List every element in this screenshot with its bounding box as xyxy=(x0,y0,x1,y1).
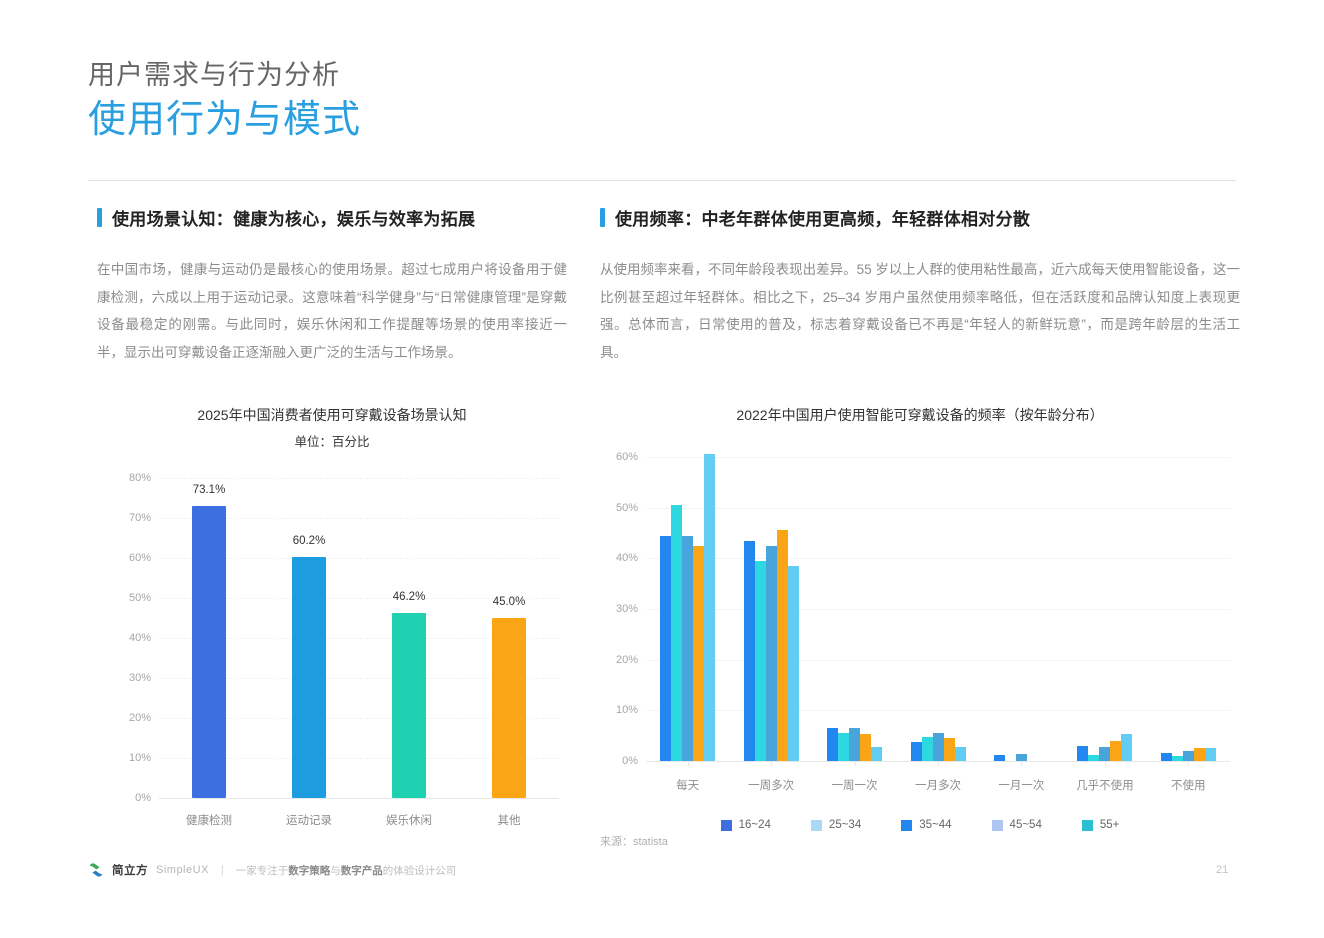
y-axis-tick: 60% xyxy=(616,451,638,463)
x-axis-label: 一月一次 xyxy=(998,777,1044,793)
bar xyxy=(1205,748,1216,761)
footer-brand-cn: 简立方 xyxy=(112,862,148,878)
left-chart-title: 2025年中国消费者使用可穿戴设备场景认知 xyxy=(97,405,567,425)
bar xyxy=(827,728,838,761)
x-axis-tick xyxy=(1188,761,1189,766)
legend-swatch-icon xyxy=(1082,820,1093,831)
bar xyxy=(1121,734,1132,761)
y-axis-tick: 0% xyxy=(135,792,151,804)
slide: 用户需求与行为分析 使用行为与模式 使用场景认知：健康为核心，娱乐与效率为拓展 … xyxy=(0,0,1324,938)
gridline xyxy=(646,457,1230,458)
y-axis-tick: 70% xyxy=(129,512,151,524)
bar xyxy=(1110,741,1121,761)
bar-value-label: 73.1% xyxy=(193,484,226,496)
left-section-body: 在中国市场，健康与运动仍是最核心的使用场景。超过七成用户将设备用于健康检测，六成… xyxy=(97,256,567,367)
gridline xyxy=(646,710,1230,711)
left-chart-plot: 0%10%20%30%40%50%60%70%80%73.1%健康检测60.2%… xyxy=(159,478,559,798)
bar xyxy=(860,734,871,761)
y-axis-tick: 40% xyxy=(616,552,638,564)
bar xyxy=(704,454,715,761)
left-chart: 2025年中国消费者使用可穿戴设备场景认知 单位：百分比 0%10%20%30%… xyxy=(97,405,567,798)
x-axis-label: 运动记录 xyxy=(286,812,332,828)
y-axis-tick: 20% xyxy=(129,712,151,724)
y-axis-tick: 10% xyxy=(129,752,151,764)
footer-brand-en: SimpleUX xyxy=(156,864,209,876)
right-chart-source: 来源：statista xyxy=(600,833,668,849)
x-axis-tick xyxy=(855,761,856,766)
y-axis-tick: 10% xyxy=(616,704,638,716)
legend-label: 16~24 xyxy=(739,819,771,831)
footer: 简立方 SimpleUX | 一家专注于数字策略与数字产品的体验设计公司 xyxy=(88,862,456,878)
bar xyxy=(1016,754,1027,761)
bar xyxy=(192,506,226,798)
bar xyxy=(1077,746,1088,761)
legend-item[interactable]: 25~34 xyxy=(811,819,861,831)
bar xyxy=(660,536,671,761)
bar xyxy=(392,613,426,798)
right-chart-title: 2022年中国用户使用智能可穿戴设备的频率（按年龄分布） xyxy=(600,405,1240,425)
bar xyxy=(911,742,922,761)
x-axis-label: 一周多次 xyxy=(748,777,794,793)
bar xyxy=(849,728,860,761)
x-axis-tick xyxy=(1105,761,1106,766)
bar xyxy=(955,747,966,761)
y-axis-tick: 30% xyxy=(129,672,151,684)
bar xyxy=(1183,751,1194,761)
bar xyxy=(755,561,766,761)
bar xyxy=(1099,747,1110,761)
bar-value-label: 45.0% xyxy=(493,596,526,608)
bar xyxy=(1194,748,1205,761)
left-chart-subtitle: 单位：百分比 xyxy=(97,431,567,450)
accent-bar-icon xyxy=(97,208,102,227)
page-title: 使用行为与模式 xyxy=(88,97,361,145)
footer-tagline: 一家专注于数字策略与数字产品的体验设计公司 xyxy=(236,863,457,878)
bar xyxy=(682,536,693,761)
x-axis-tick xyxy=(771,761,772,766)
bar-value-label: 46.2% xyxy=(393,591,426,603)
left-column: 使用场景认知：健康为核心，娱乐与效率为拓展 在中国市场，健康与运动仍是最核心的使… xyxy=(97,205,567,367)
legend-swatch-icon xyxy=(992,820,1003,831)
right-column: 使用频率：中老年群体使用更高频，年轻群体相对分散 从使用频率来看，不同年龄段表现… xyxy=(600,205,1240,367)
legend-swatch-icon xyxy=(721,820,732,831)
right-chart-legend: 16~2425~3435~4445~5455+ xyxy=(600,819,1240,831)
right-section-title: 使用频率：中老年群体使用更高频，年轻群体相对分散 xyxy=(615,205,1030,230)
legend-item[interactable]: 35~44 xyxy=(901,819,951,831)
x-axis-tick xyxy=(938,761,939,766)
bar xyxy=(777,530,788,761)
bar xyxy=(944,738,955,761)
legend-label: 35~44 xyxy=(919,819,951,831)
accent-bar-icon xyxy=(600,208,605,227)
bar xyxy=(492,618,526,798)
gridline xyxy=(646,558,1230,559)
gridline xyxy=(159,478,559,479)
y-axis-tick: 30% xyxy=(616,603,638,615)
legend-swatch-icon xyxy=(811,820,822,831)
y-axis-tick: 20% xyxy=(616,654,638,666)
bar xyxy=(994,755,1005,761)
x-axis-label: 健康检测 xyxy=(186,812,232,828)
bar xyxy=(1161,753,1172,761)
legend-label: 45~54 xyxy=(1010,819,1042,831)
y-axis-tick: 40% xyxy=(129,632,151,644)
y-axis-tick: 50% xyxy=(616,502,638,514)
legend-item[interactable]: 55+ xyxy=(1082,819,1120,831)
gridline xyxy=(159,798,559,799)
x-axis-label: 娱乐休闲 xyxy=(386,812,432,828)
legend-item[interactable]: 16~24 xyxy=(721,819,771,831)
bar xyxy=(693,546,704,761)
page-header: 用户需求与行为分析 使用行为与模式 xyxy=(88,58,361,145)
x-axis-label: 一月多次 xyxy=(915,777,961,793)
gridline xyxy=(646,508,1230,509)
legend-label: 25~34 xyxy=(829,819,861,831)
bar xyxy=(1172,756,1183,761)
right-section-body: 从使用频率来看，不同年龄段表现出差异。55 岁以上人群的使用粘性最高，近六成每天… xyxy=(600,256,1240,367)
footer-divider: | xyxy=(221,864,224,876)
right-section-heading: 使用频率：中老年群体使用更高频，年轻群体相对分散 xyxy=(600,205,1240,230)
x-axis-label: 每天 xyxy=(676,777,699,793)
x-axis-label: 不使用 xyxy=(1171,777,1206,793)
x-axis-label: 几乎不使用 xyxy=(1076,777,1134,793)
x-axis-tick xyxy=(1021,761,1022,766)
bar xyxy=(766,546,777,761)
bar-value-label: 60.2% xyxy=(293,535,326,547)
simpleux-logo-icon xyxy=(88,862,104,878)
gridline xyxy=(646,660,1230,661)
x-axis-label: 其他 xyxy=(498,812,521,828)
y-axis-tick: 0% xyxy=(622,755,638,767)
bar xyxy=(933,733,944,761)
y-axis-tick: 50% xyxy=(129,592,151,604)
header-divider xyxy=(88,180,1236,181)
legend-item[interactable]: 45~54 xyxy=(992,819,1042,831)
left-section-title: 使用场景认知：健康为核心，娱乐与效率为拓展 xyxy=(112,205,475,230)
y-axis-tick: 60% xyxy=(129,552,151,564)
bar xyxy=(922,737,933,761)
gridline xyxy=(646,609,1230,610)
x-axis-label: 一周一次 xyxy=(832,777,878,793)
bar xyxy=(788,566,799,761)
page-number: 21 xyxy=(1216,864,1228,876)
y-axis-tick: 80% xyxy=(129,472,151,484)
right-chart-plot: 0%10%20%30%40%50%60%每天一周多次一周一次一月多次一月一次几乎… xyxy=(646,457,1230,761)
bar xyxy=(744,541,755,761)
bar xyxy=(671,505,682,761)
legend-label: 55+ xyxy=(1100,819,1120,831)
page-kicker: 用户需求与行为分析 xyxy=(88,58,361,93)
bar xyxy=(1088,755,1099,761)
bar xyxy=(292,557,326,798)
x-axis-tick xyxy=(688,761,689,766)
legend-swatch-icon xyxy=(901,820,912,831)
right-chart: 2022年中国用户使用智能可穿戴设备的频率（按年龄分布） 0%10%20%30%… xyxy=(600,405,1240,831)
left-section-heading: 使用场景认知：健康为核心，娱乐与效率为拓展 xyxy=(97,205,567,230)
bar xyxy=(871,747,882,761)
bar xyxy=(838,733,849,761)
